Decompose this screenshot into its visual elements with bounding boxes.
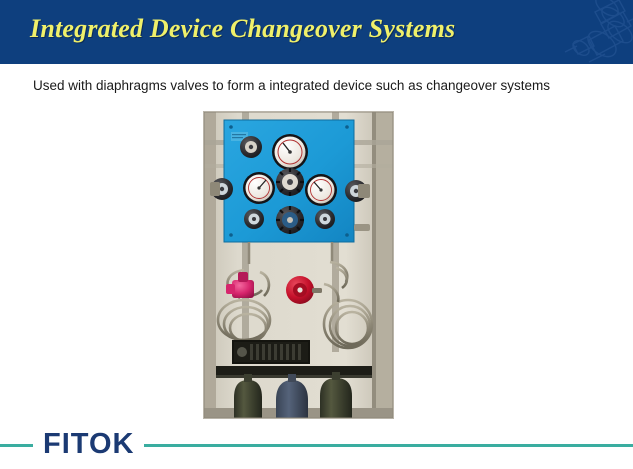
changeover-system-photo <box>203 111 394 419</box>
valve-fitting-outline-icon <box>519 0 633 64</box>
slide-header: Integrated Device Changeover Systems <box>0 0 633 64</box>
slide-caption: Used with diaphragms valves to form a in… <box>33 78 550 93</box>
slide: Integrated Device Changeover Systems Use… <box>0 0 633 469</box>
page-title: Integrated Device Changeover Systems <box>30 14 455 44</box>
fitok-logo: FITOK <box>33 429 144 459</box>
